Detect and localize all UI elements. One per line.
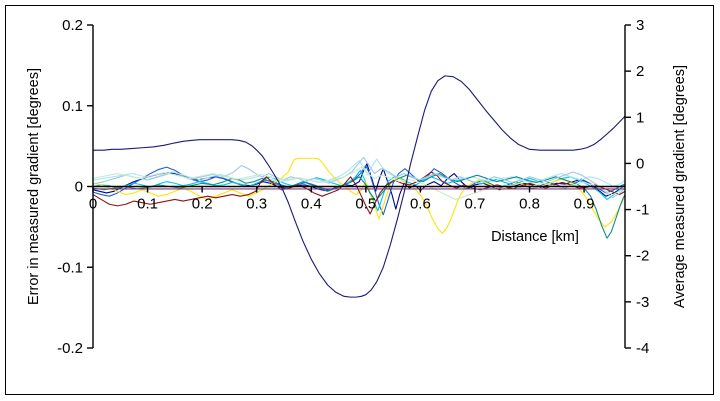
- x-axis-tick-label: 0.8: [519, 196, 540, 213]
- right-axis-tick-label: -4: [636, 340, 649, 357]
- right-axis-tick-label: -1: [636, 202, 649, 219]
- x-axis-tick-label: 0.1: [137, 196, 158, 213]
- axes-group: 0.20.10-0.1-0.2Error in measured gradien…: [26, 17, 688, 357]
- x-axis-title: Distance [km]: [491, 229, 579, 245]
- x-axis-tick-label: 0.9: [574, 196, 595, 213]
- right-axis-tick-label: 3: [636, 17, 644, 34]
- left-axis-tick-label: 0.2: [62, 17, 83, 34]
- left-axis-tick-label: 0: [75, 179, 83, 196]
- right-axis-tick-label: 0: [636, 155, 644, 172]
- right-axis-tick-label: -3: [636, 294, 649, 311]
- right-axis-title: Average measured gradient [degrees]: [672, 65, 688, 308]
- chart-figure: 0.20.10-0.1-0.2Error in measured gradien…: [0, 0, 720, 401]
- x-axis-tick-label: 0.7: [465, 196, 486, 213]
- x-axis-tick-label: 0.5: [355, 196, 376, 213]
- right-axis-tick-label: 2: [636, 63, 644, 80]
- left-axis-title: Error in measured gradient [degrees]: [26, 68, 42, 305]
- x-axis-tick-label: 0.4: [301, 196, 322, 213]
- x-axis-tick-label: 0.3: [246, 196, 267, 213]
- right-axis-tick-label: 1: [636, 109, 644, 126]
- left-axis-tick-label: 0.1: [62, 98, 83, 115]
- x-axis-tick-label: 0.2: [192, 196, 213, 213]
- chart-svg: 0.20.10-0.1-0.2Error in measured gradien…: [0, 0, 720, 401]
- right-axis-tick-label: -2: [636, 248, 649, 265]
- x-axis-tick-label: 0: [89, 196, 97, 213]
- left-axis-tick-label: -0.1: [57, 259, 83, 276]
- x-axis-tick-label: 0.6: [410, 196, 431, 213]
- left-axis-tick-label: -0.2: [57, 340, 83, 357]
